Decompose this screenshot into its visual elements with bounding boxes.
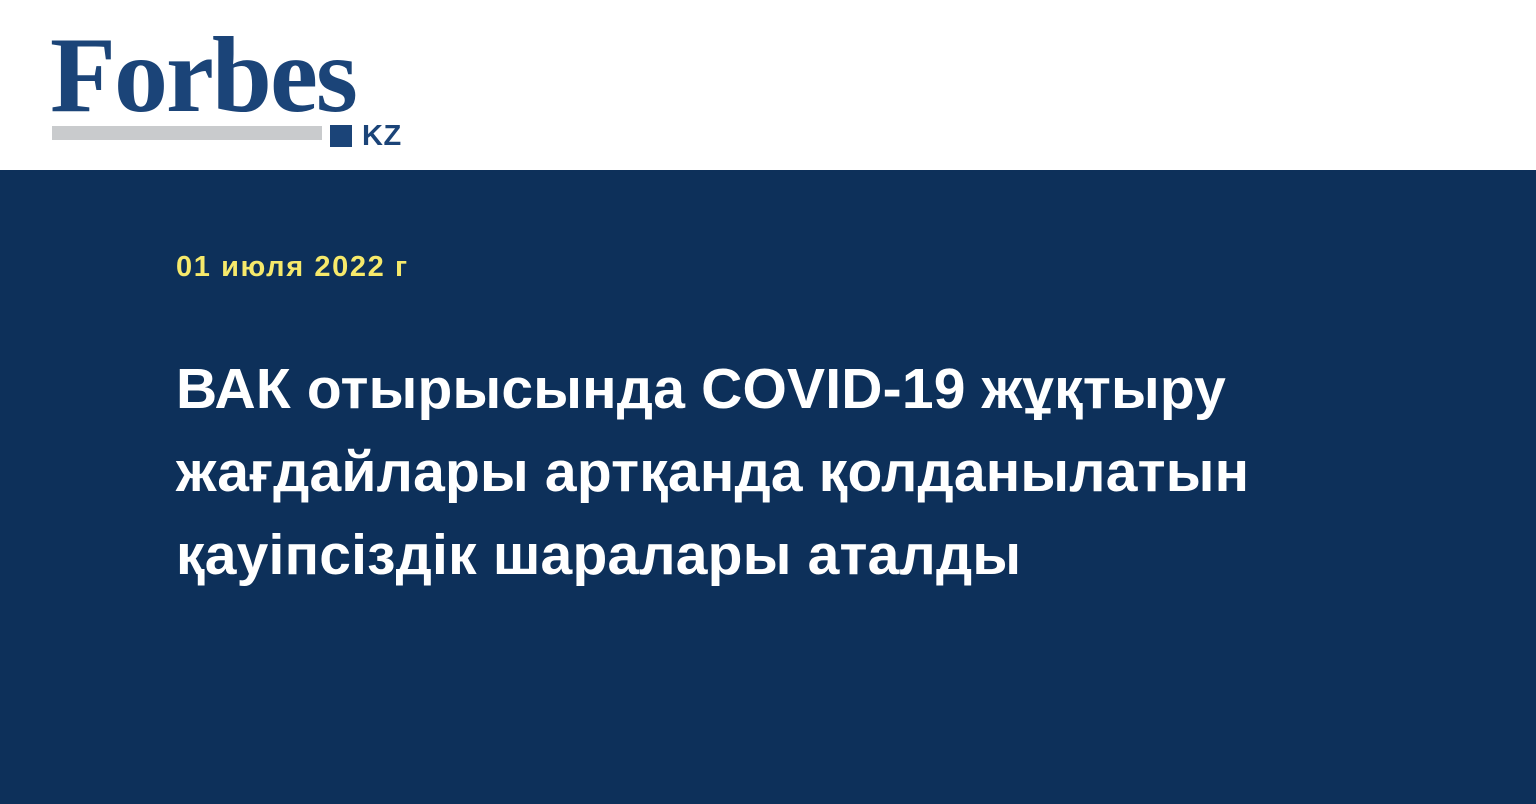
article-page: Forbes KZ 01 июля 2022 г ВАК отырысында … [0, 0, 1536, 804]
logo-tld-label: KZ [362, 122, 402, 151]
logo-rule-divider [52, 126, 322, 140]
article-headline: ВАК отырысында COVID-19 жұқтыру жағдайла… [176, 348, 1336, 597]
article-publish-date: 01 июля 2022 г [176, 250, 409, 284]
forbes-kz-logo[interactable]: Forbes KZ [50, 22, 420, 146]
forbes-wordmark: Forbes [50, 22, 356, 130]
logo-square-icon [330, 125, 352, 147]
article-hero-banner: 01 июля 2022 г ВАК отырысында COVID-19 ж… [0, 170, 1536, 804]
site-header: Forbes KZ [0, 0, 1536, 170]
